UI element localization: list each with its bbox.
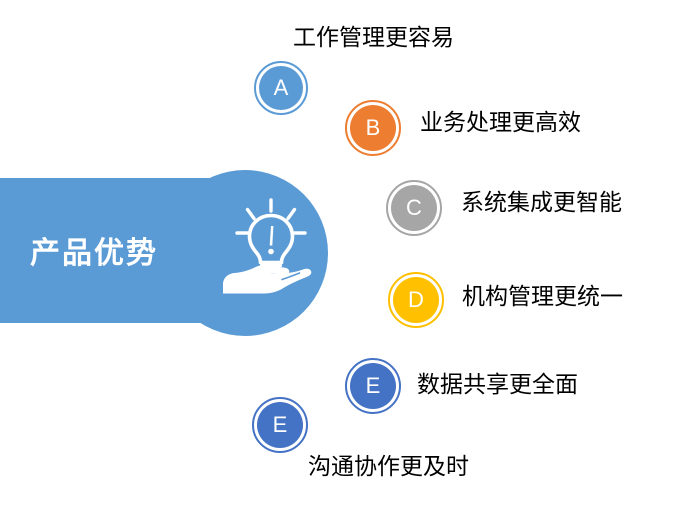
step-circle-disc: D: [393, 277, 439, 323]
step-label-1: 工作管理更容易: [293, 27, 454, 50]
step-letter: D: [408, 289, 424, 311]
step-circle-2[interactable]: B: [345, 100, 401, 156]
diagram-canvas: 产品优势 A工作管理更容易B业务处理更高效C系统集成更智能D机构管理更统一E数据…: [0, 0, 673, 515]
step-letter: A: [274, 77, 289, 99]
step-circle-4[interactable]: D: [388, 272, 444, 328]
step-label-5: 数据共享更全面: [417, 374, 578, 397]
step-circle-disc: E: [350, 363, 396, 409]
step-circle-3[interactable]: C: [386, 180, 442, 236]
step-circle-1[interactable]: A: [254, 61, 308, 115]
step-letter: E: [273, 414, 288, 436]
step-circle-disc: B: [350, 105, 396, 151]
step-circle-disc: C: [391, 185, 437, 231]
step-letter: C: [406, 197, 422, 219]
step-label-2: 业务处理更高效: [420, 112, 581, 135]
lightbulb-in-hand-icon: [219, 193, 323, 297]
step-letter: B: [366, 117, 381, 139]
step-label-3: 系统集成更智能: [461, 192, 622, 215]
step-circle-disc: A: [259, 66, 303, 110]
step-circle-disc: E: [257, 402, 303, 448]
step-letter: E: [366, 375, 381, 397]
step-label-4: 机构管理更统一: [462, 286, 623, 309]
banner-title: 产品优势: [30, 228, 210, 272]
step-circle-5[interactable]: E: [345, 358, 401, 414]
step-label-6: 沟通协作更及时: [308, 456, 469, 479]
step-circle-6[interactable]: E: [252, 397, 308, 453]
